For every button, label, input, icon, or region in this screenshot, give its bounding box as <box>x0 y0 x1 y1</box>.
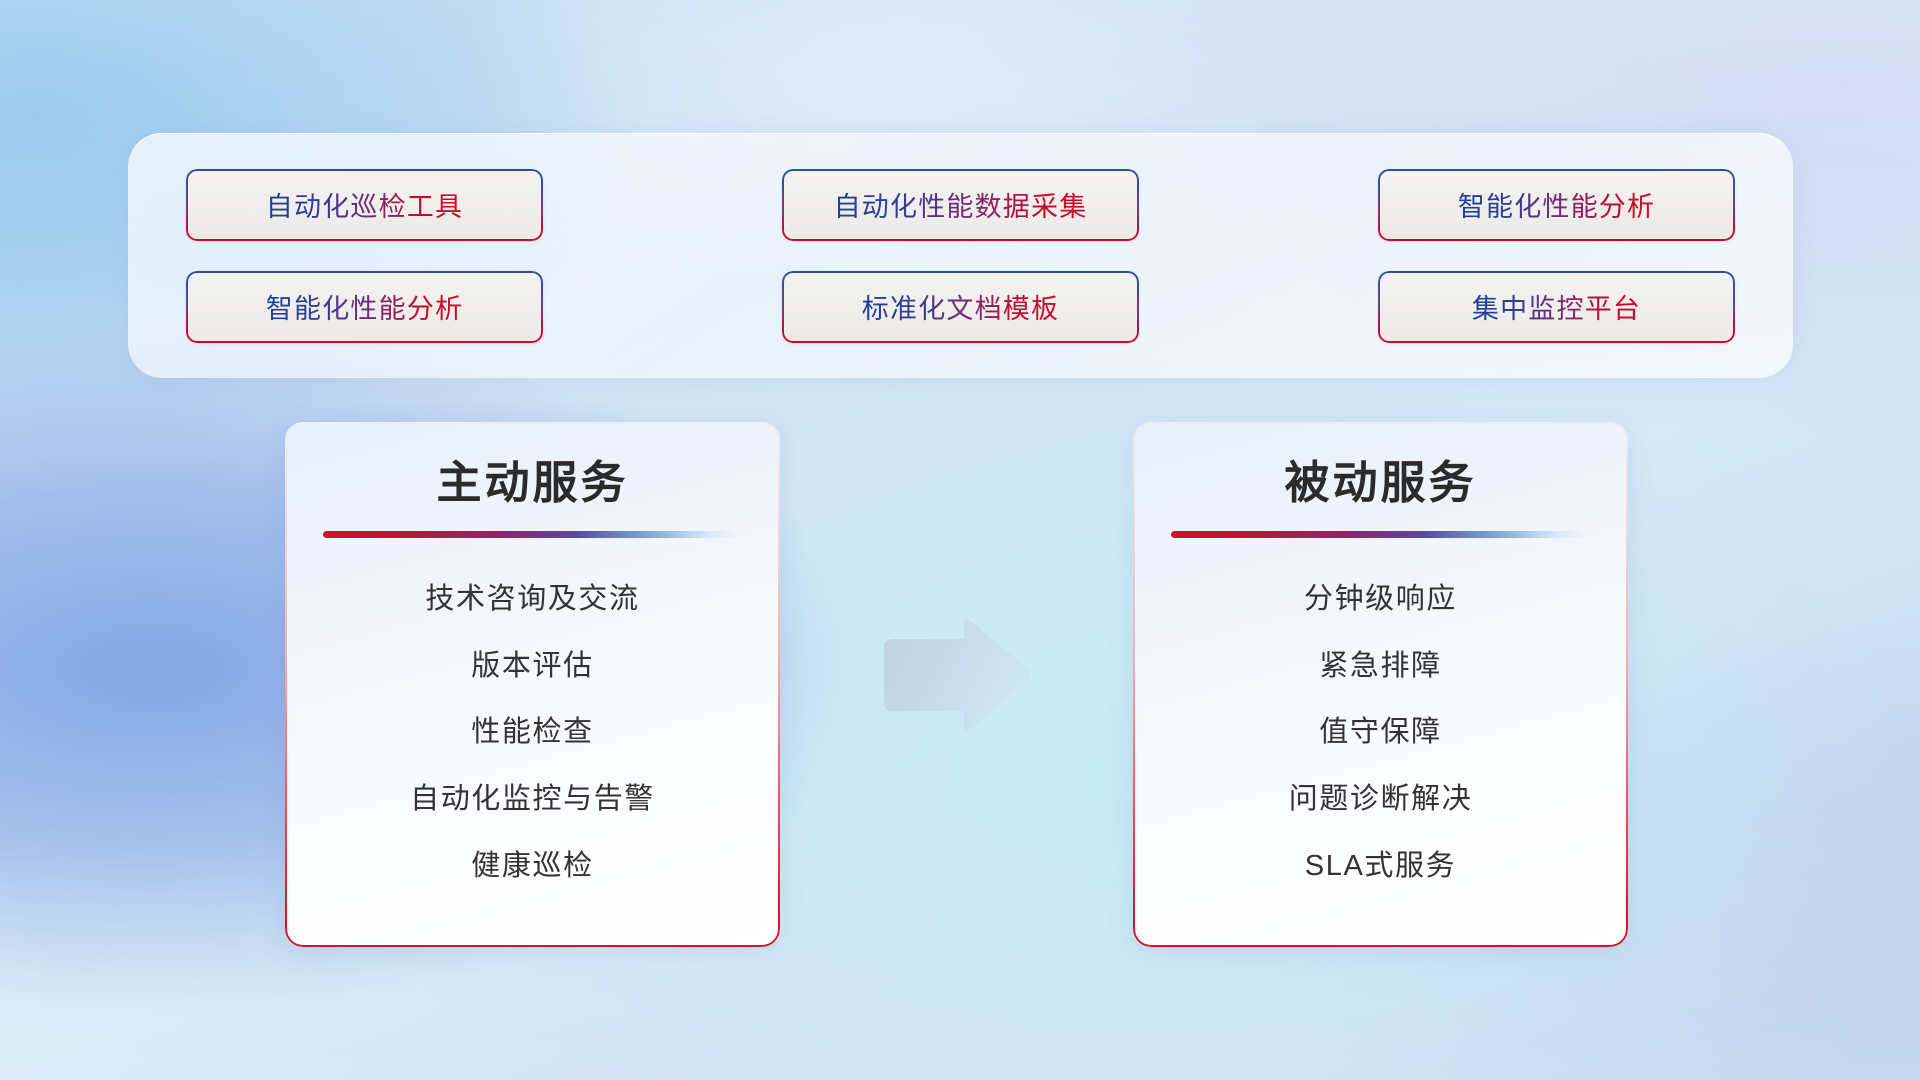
capability-pill-automated-performance-data-collection[interactable]: 自动化性能数据采集 <box>782 169 1139 241</box>
card-title-divider <box>323 531 742 538</box>
capability-pill-label: 自动化性能数据采集 <box>834 185 1088 224</box>
card-content: 被动服务 分钟级响应 紧急排障 值守保障 问题诊断解决 SLA式服务 <box>1133 422 1628 947</box>
list-item: 健康巡检 <box>471 848 593 884</box>
card-item-list: 分钟级响应 紧急排障 值守保障 问题诊断解决 SLA式服务 <box>1171 538 1590 921</box>
capabilities-row-1: 自动化巡检工具 自动化性能数据采集 智能化性能分析 <box>186 169 1735 241</box>
card-title: 被动服务 <box>1171 456 1590 509</box>
list-item: 问题诊断解决 <box>1289 781 1473 817</box>
service-card-proactive: 主动服务 技术咨询及交流 版本评估 性能检查 自动化监控与告警 健康巡检 <box>285 422 780 947</box>
capability-pill-label: 集中监控平台 <box>1472 287 1641 326</box>
card-title-divider <box>1171 531 1590 538</box>
capabilities-panel: 自动化巡检工具 自动化性能数据采集 智能化性能分析 智能化性能分析 标准化文档模… <box>128 133 1793 378</box>
list-item: 技术咨询及交流 <box>425 581 639 617</box>
capability-pill-label: 标准化文档模板 <box>862 287 1059 326</box>
list-item: SLA式服务 <box>1305 848 1456 884</box>
capabilities-row-2: 智能化性能分析 标准化文档模板 集中监控平台 <box>186 271 1735 343</box>
list-item: 紧急排障 <box>1319 648 1441 684</box>
capability-pill-centralized-monitoring-platform[interactable]: 集中监控平台 <box>1378 271 1735 343</box>
list-item: 值守保障 <box>1319 714 1441 750</box>
flow-arrow-right-icon <box>876 616 1034 734</box>
card-item-list: 技术咨询及交流 版本评估 性能检查 自动化监控与告警 健康巡检 <box>323 538 742 921</box>
list-item: 性能检查 <box>471 714 593 750</box>
service-card-reactive: 被动服务 分钟级响应 紧急排障 值守保障 问题诊断解决 SLA式服务 <box>1133 422 1628 947</box>
card-content: 主动服务 技术咨询及交流 版本评估 性能检查 自动化监控与告警 健康巡检 <box>285 422 780 947</box>
capability-pill-intelligent-performance-analysis-2[interactable]: 智能化性能分析 <box>186 271 543 343</box>
list-item: 自动化监控与告警 <box>410 781 655 817</box>
list-item: 版本评估 <box>471 648 593 684</box>
capability-pill-intelligent-performance-analysis[interactable]: 智能化性能分析 <box>1378 169 1735 241</box>
list-item: 分钟级响应 <box>1304 581 1457 617</box>
capability-pill-automated-inspection-tool[interactable]: 自动化巡检工具 <box>186 169 543 241</box>
capability-pill-label: 自动化巡检工具 <box>266 185 463 224</box>
capability-pill-standardized-doc-template[interactable]: 标准化文档模板 <box>782 271 1139 343</box>
card-title: 主动服务 <box>323 456 742 509</box>
capability-pill-label: 智能化性能分析 <box>266 287 463 326</box>
capability-pill-label: 智能化性能分析 <box>1458 185 1655 224</box>
